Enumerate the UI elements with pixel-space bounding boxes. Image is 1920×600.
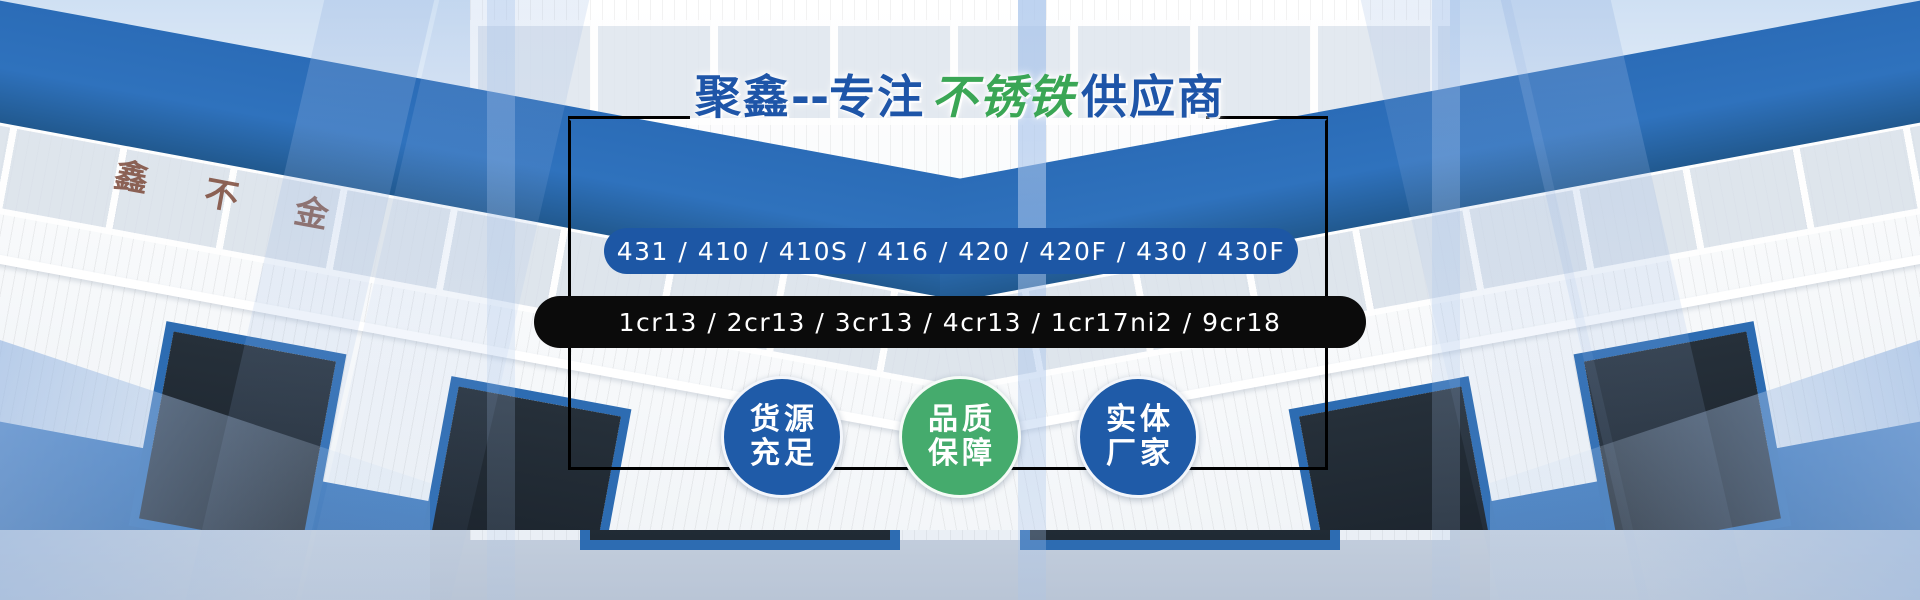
feature-badge-line2: 保障 — [924, 437, 996, 471]
banner-headline: 聚鑫--专注不锈铁供应商 — [0, 74, 1920, 120]
grade-list-secondary: 1cr13 / 2cr13 / 3cr13 / 4cr13 / 1cr17ni2… — [534, 296, 1366, 348]
feature-badge-line2: 厂家 — [1102, 437, 1174, 471]
feature-badge-line1: 品质 — [924, 403, 996, 437]
grade-list-primary: 431 / 410 / 410S / 416 / 420 / 420F / 43… — [604, 228, 1298, 274]
feature-badge-line2: 充足 — [746, 437, 818, 471]
feature-badge-line1: 实体 — [1102, 403, 1174, 437]
feature-badge-supply: 货源 充足 — [721, 376, 843, 498]
headline-material: 不锈铁 — [925, 70, 1081, 124]
feature-badge-quality: 品质 保障 — [899, 376, 1021, 498]
headline-focus: 专注 — [829, 70, 925, 124]
headline-dash: -- — [791, 70, 829, 124]
headline-brand: 聚鑫 — [695, 70, 791, 124]
feature-badge-line1: 货源 — [746, 403, 818, 437]
headline-supplier: 供应商 — [1081, 70, 1225, 124]
feature-badges: 货源 充足 品质 保障 实体 厂家 — [0, 372, 1920, 502]
banner-content: 聚鑫--专注不锈铁供应商 431 / 410 / 410S / 416 / 42… — [0, 0, 1920, 600]
promo-banner: 鑫 不 金 聚鑫--专注不锈铁供应商 431 / 410 / 410S / 41… — [0, 0, 1920, 600]
feature-badge-factory: 实体 厂家 — [1077, 376, 1199, 498]
